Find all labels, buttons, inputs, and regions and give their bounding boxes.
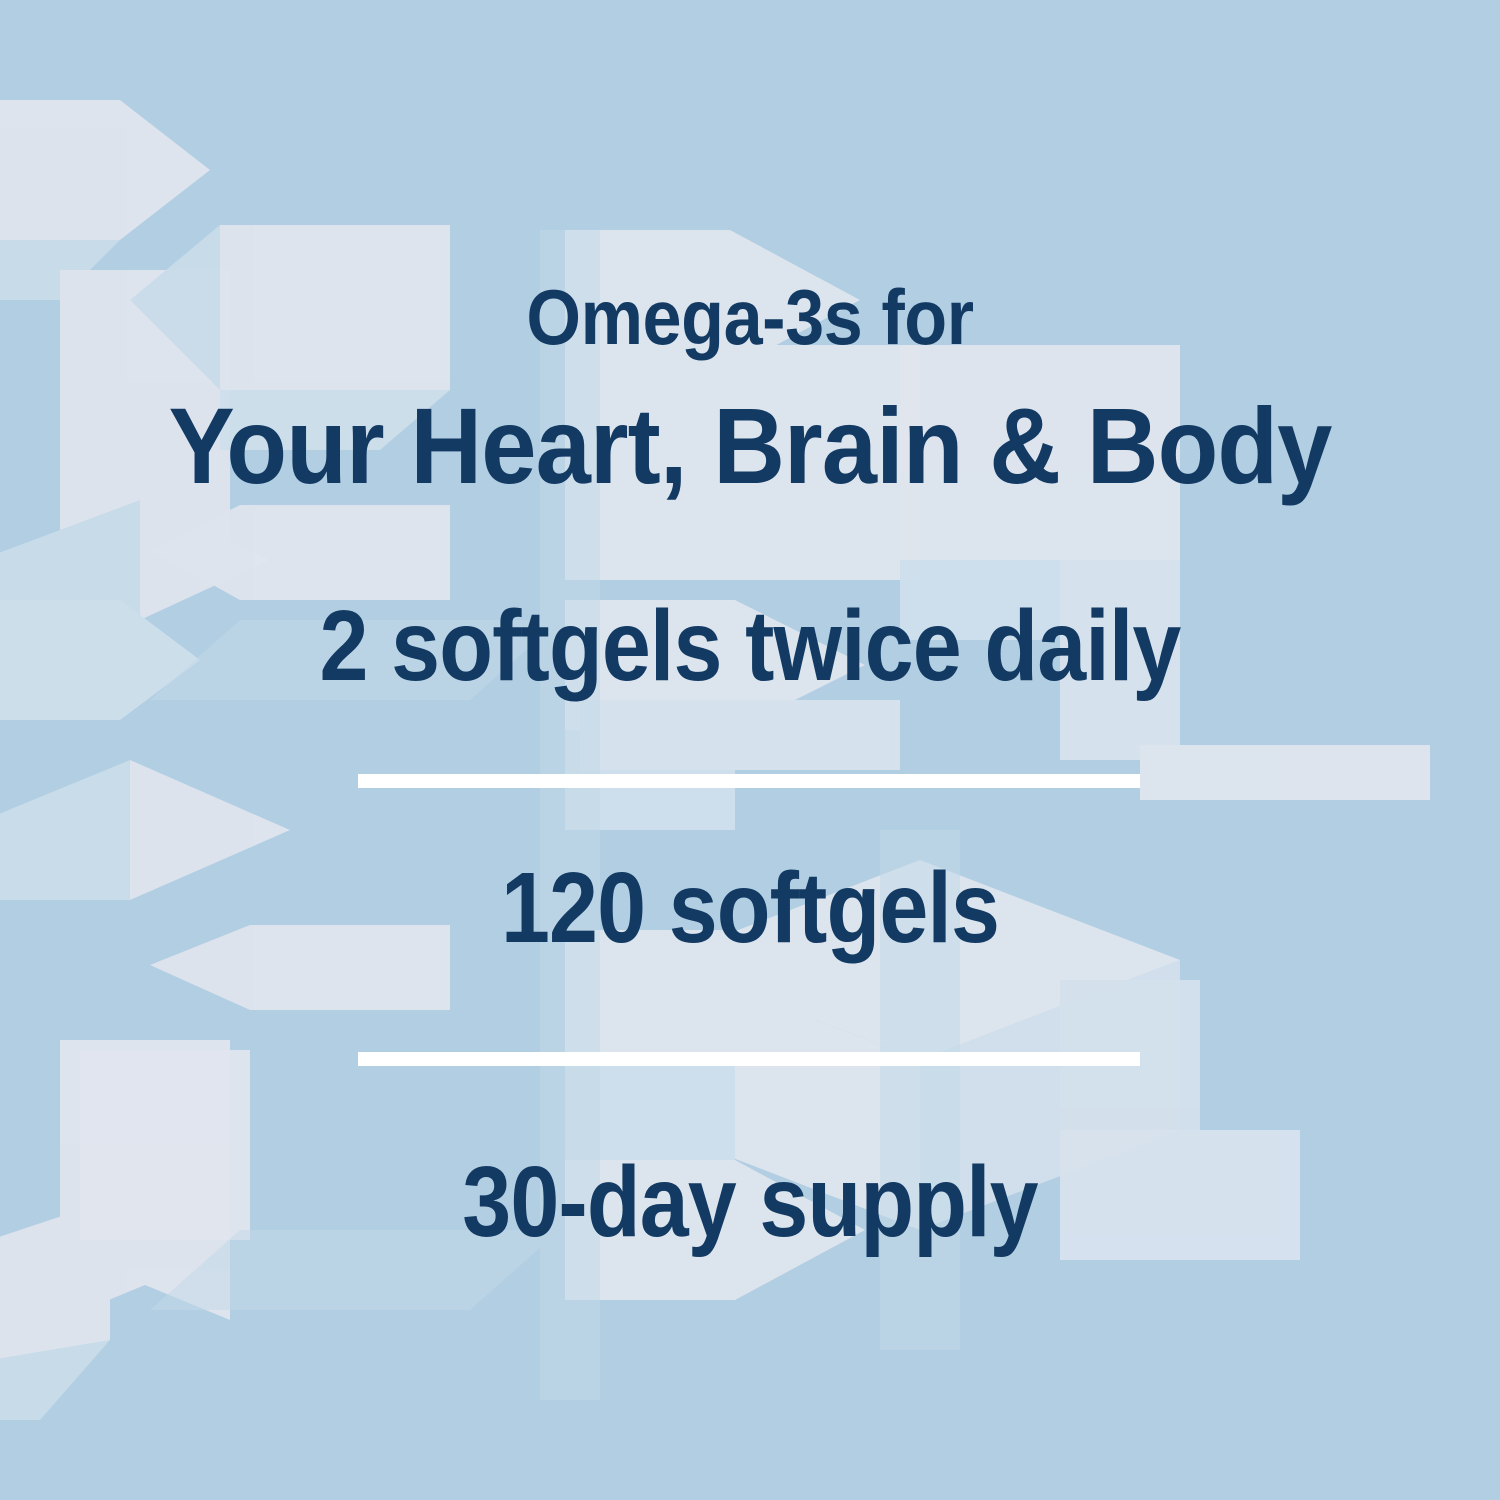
- fact-dosage: 2 softgels twice daily: [90, 596, 1410, 696]
- headline-line-1: Omega-3s for: [75, 278, 1425, 356]
- headline-line-2: Your Heart, Brain & Body: [60, 392, 1440, 500]
- divider-top: [358, 774, 1140, 788]
- fact-supply: 30-day supply: [90, 1152, 1410, 1252]
- divider-bottom: [358, 1052, 1140, 1066]
- product-infographic-panel: Omega-3s for Your Heart, Brain & Body 2 …: [0, 0, 1500, 1500]
- content-stack: Omega-3s for Your Heart, Brain & Body 2 …: [0, 0, 1500, 1500]
- fact-count: 120 softgels: [90, 858, 1410, 958]
